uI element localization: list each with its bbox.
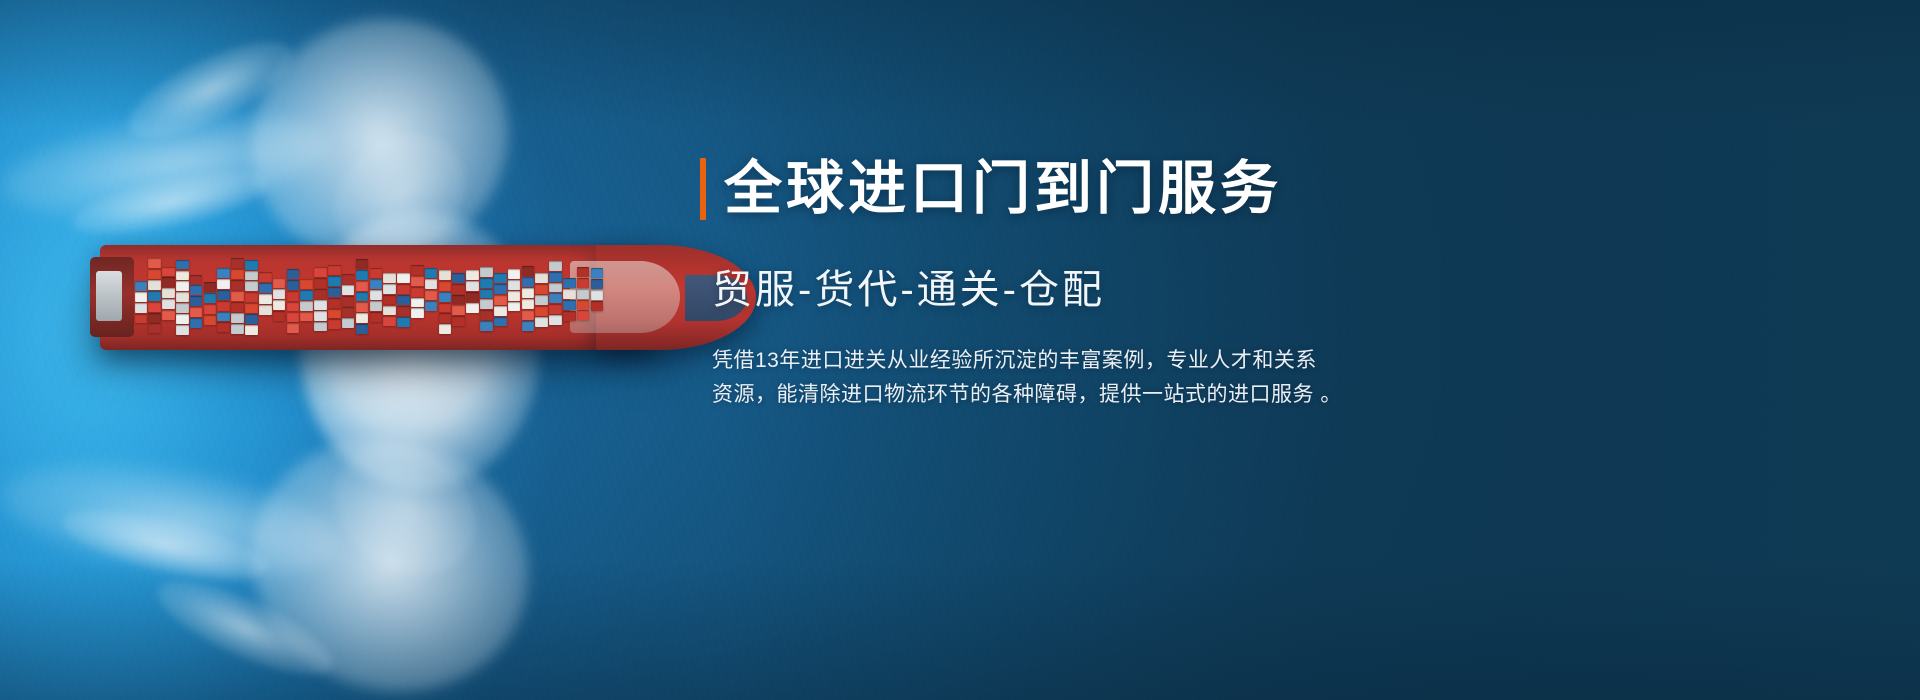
shipping-container [563,278,576,288]
shipping-container [259,283,272,293]
shipping-container [577,267,590,277]
shipping-container [176,281,189,291]
shipping-container [425,290,438,300]
shipping-container [259,272,272,282]
shipping-container [300,279,313,289]
shipping-container [439,292,452,302]
shipping-container [535,317,548,327]
shipping-container [494,317,507,327]
shipping-container [148,280,161,290]
shipping-container [397,295,410,305]
shipping-container [162,310,175,320]
shipping-container [411,287,424,297]
shipping-container [397,306,410,316]
shipping-container [231,291,244,301]
shipping-container [231,258,244,268]
shipping-container [480,299,493,309]
shipping-container [342,318,355,328]
shipping-container [591,290,604,300]
shipping-container [508,291,521,301]
shipping-container [300,301,313,311]
shipping-container [245,281,258,291]
shipping-container [356,302,369,312]
shipping-container [549,315,562,325]
shipping-container [466,281,479,291]
shipping-container [508,302,521,312]
shipping-container [245,292,258,302]
shipping-container [452,273,465,283]
shipping-container [356,259,369,269]
shipping-container [563,311,576,321]
shipping-container [162,299,175,309]
shipping-container [577,289,590,299]
shipping-container [356,281,369,291]
shipping-container [314,289,327,299]
shipping-container [287,269,300,279]
shipping-container [549,272,562,282]
body-copy-line-2: 资源，能清除进口物流环节的各种障碍，提供一站式的进口服务 。 [712,378,1412,412]
shipping-container [591,301,604,311]
shipping-container [231,302,244,312]
shipping-container [190,307,203,317]
shipping-container [439,324,452,334]
shipping-container [480,267,493,277]
shipping-container [522,310,535,320]
shipping-container [452,305,465,315]
shipping-container [148,291,161,301]
shipping-container [439,270,452,280]
shipping-container [287,291,300,301]
shipping-container [508,280,521,290]
shipping-container [190,275,203,285]
shipping-container [190,318,203,328]
shipping-container [563,289,576,299]
shipping-container [259,305,272,315]
shipping-container [287,280,300,290]
shipping-container [535,284,548,294]
ship-bridge [96,271,122,321]
shipping-container [356,292,369,302]
shipping-container [176,260,189,270]
shipping-container [522,266,535,276]
shipping-container [466,292,479,302]
shipping-container [356,324,369,334]
shipping-container [245,260,258,270]
shipping-container [287,323,300,333]
shipping-container [356,270,369,280]
shipping-container [370,301,383,311]
shipping-container [273,300,286,310]
shipping-container [217,268,230,278]
shipping-container [494,295,507,305]
shipping-container [425,301,438,311]
shipping-container [190,296,203,306]
shipping-container [176,325,189,335]
shipping-container [480,310,493,320]
shipping-container [148,323,161,333]
shipping-container [577,300,590,310]
shipping-container [176,292,189,302]
body-copy-line-1: 凭借13年进口进关从业经验所沉淀的丰富案例，专业人才和关系 [712,344,1412,378]
shipping-container [522,277,535,287]
shipping-container [162,288,175,298]
container-stack [134,249,604,347]
shipping-container [549,304,562,314]
shipping-container [480,321,493,331]
page-title: 全球进口门到门服务 [724,160,1282,218]
shipping-container [314,311,327,321]
shipping-container [425,268,438,278]
shipping-container [563,300,576,310]
shipping-container [148,313,161,323]
shipping-container [245,325,258,335]
shipping-container [397,317,410,327]
shipping-container [535,306,548,316]
shipping-container [397,284,410,294]
shipping-container [273,278,286,288]
shipping-container [328,319,341,329]
shipping-container [466,303,479,313]
shipping-container [287,312,300,322]
shipping-container [287,302,300,312]
shipping-container [425,279,438,289]
shipping-container [411,276,424,286]
shipping-container [452,295,465,305]
shipping-container [231,269,244,279]
shipping-container [370,279,383,289]
shipping-container [314,267,327,277]
shipping-container [176,303,189,313]
shipping-container [245,314,258,324]
shipping-container [494,284,507,294]
shipping-container [411,308,424,318]
shipping-container [245,303,258,313]
shipping-container [259,294,272,304]
hero-banner: 全球进口门到门服务 贸服-货代-通关-仓配 凭借13年进口进关从业经验所沉淀的丰… [0,0,1920,700]
shipping-container [135,281,148,291]
shipping-container [383,295,396,305]
shipping-container [328,298,341,308]
shipping-container [577,278,590,288]
container-ship [100,245,655,350]
shipping-container [535,273,548,283]
shipping-container [383,306,396,316]
shipping-container [162,267,175,277]
shipping-container [162,277,175,287]
shipping-container [370,268,383,278]
shipping-container [439,303,452,313]
shipping-container [314,322,327,332]
shipping-container [231,313,244,323]
shipping-container [176,314,189,324]
shipping-container [549,283,562,293]
shipping-container [411,265,424,275]
shipping-container [328,287,341,297]
shipping-container [328,276,341,286]
shipping-container [549,261,562,271]
shipping-container [480,278,493,288]
shipping-container [452,284,465,294]
shipping-container [314,278,327,288]
shipping-container [217,322,230,332]
shipping-container [383,284,396,294]
shipping-container [217,312,230,322]
shipping-container [135,292,148,302]
shipping-container [466,270,479,280]
shipping-container [273,289,286,299]
shipping-container [508,269,521,279]
shipping-container [217,290,230,300]
shipping-container [204,315,217,325]
shipping-container [135,314,148,324]
shipping-container [148,269,161,279]
shipping-container [522,288,535,298]
shipping-container [231,324,244,334]
shipping-container [342,307,355,317]
shipping-container [383,273,396,283]
accent-bar-icon [700,158,706,220]
shipping-container [204,293,217,303]
shipping-container [591,279,604,289]
shipping-container [383,316,396,326]
shipping-container [452,316,465,326]
shipping-container [591,268,604,278]
shipping-container [135,303,148,313]
shipping-container [328,309,341,319]
shipping-container [204,282,217,292]
shipping-container [148,258,161,268]
shipping-container [300,290,313,300]
shipping-container [397,273,410,283]
shipping-container [204,304,217,314]
shipping-container [480,289,493,299]
shipping-container [231,280,244,290]
shipping-container [411,298,424,308]
subtitle: 贸服-货代-通关-仓配 [712,270,1460,310]
shipping-container [176,271,189,281]
shipping-container [522,321,535,331]
shipping-container [328,265,341,275]
shipping-container [148,302,161,312]
shipping-container [342,296,355,306]
shipping-container [300,312,313,322]
shipping-container [494,273,507,283]
shipping-container [577,310,590,320]
shipping-container [342,274,355,284]
shipping-container [356,313,369,323]
banner-content: 全球进口门到门服务 贸服-货代-通关-仓配 凭借13年进口进关从业经验所沉淀的丰… [700,150,1460,412]
shipping-container [245,271,258,281]
shipping-container [522,299,535,309]
shipping-container [535,295,548,305]
shipping-container [314,300,327,310]
shipping-container [494,306,507,316]
shipping-container [273,311,286,321]
shipping-container [190,285,203,295]
shipping-container [217,301,230,311]
shipping-container [549,293,562,303]
shipping-container [217,279,230,289]
headline-row: 全球进口门到门服务 [700,150,1460,228]
body-copy: 凭借13年进口进关从业经验所沉淀的丰富案例，专业人才和关系 资源，能清除进口物流… [712,344,1412,412]
shipping-container [342,285,355,295]
shipping-container [439,313,452,323]
shipping-container [370,290,383,300]
shipping-container [370,312,383,322]
shipping-container [439,281,452,291]
